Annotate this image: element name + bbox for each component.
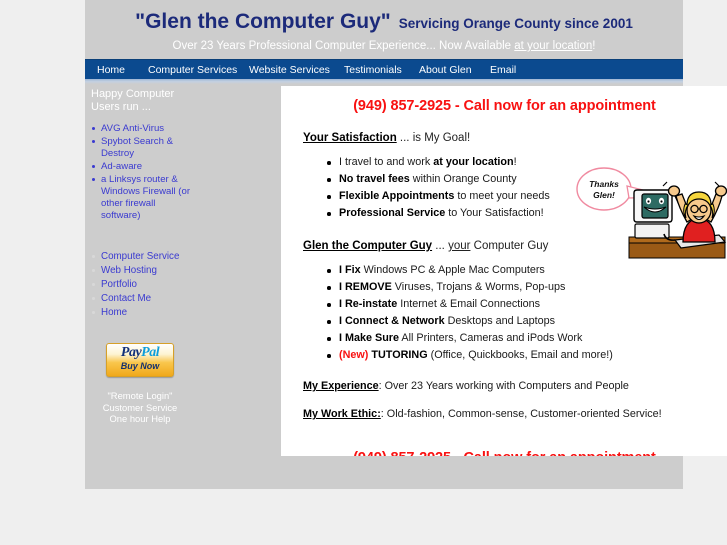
bullet-bold: I REMOVE: [339, 281, 392, 293]
bullet-post: !: [514, 156, 517, 168]
bullet-bold: at your location: [433, 156, 513, 168]
list-item: Web Hosting: [91, 264, 193, 277]
page-root: "Glen the Computer Guy"Servicing Orange …: [0, 0, 727, 545]
sidebar-link-web-hosting[interactable]: Web Hosting: [101, 265, 157, 276]
bullet-post: to meet your needs: [454, 190, 549, 202]
header-title-row: "Glen the Computer Guy"Servicing Orange …: [85, 10, 683, 34]
list-item: Portfolio: [91, 278, 193, 291]
bullet-bold: No travel fees: [339, 173, 410, 185]
person-fist-left: [669, 186, 680, 196]
nav-item-home[interactable]: Home: [97, 64, 125, 76]
nav-item-computer-services[interactable]: Computer Services: [148, 64, 237, 76]
sidebar-heading: Happy Computer Users run ...: [85, 86, 195, 114]
nav-item-testimonials[interactable]: Testimonials: [344, 64, 402, 76]
bullet-bold: I Make Sure: [339, 332, 399, 344]
sidebar-link-computer-service[interactable]: Computer Service: [101, 251, 179, 262]
list-item: I Fix Windows PC & Apple Mac Computers: [327, 262, 727, 279]
main-content-panel: (949) 857-2925 - Call now for an appoint…: [281, 86, 727, 456]
bullet-post: (Office, Quickbooks, Email and more!): [428, 349, 613, 361]
site-title: "Glen the Computer Guy": [135, 10, 391, 33]
list-item: Computer Service: [91, 250, 193, 263]
screen-pupil-right: [660, 200, 662, 202]
satisfaction-heading-rest: ... is My Goal!: [397, 132, 471, 144]
paypal-section: PayPal Buy Now "Remote Login" Customer S…: [85, 343, 195, 425]
services-heading-rest-b: Computer Guy: [470, 240, 548, 252]
monitor-screen: [642, 194, 668, 218]
phone-cta-bottom[interactable]: (949) 857-2925 - Call now for an appoint…: [281, 450, 727, 456]
list-item: Home: [91, 306, 193, 319]
bullet-post: within Orange County: [410, 173, 517, 185]
experience-line: My Experience: Over 23 Years working wit…: [303, 380, 727, 392]
list-item: Spybot Search & Destroy: [91, 136, 193, 160]
sidebar-link-home[interactable]: Home: [101, 307, 127, 318]
new-badge: (New): [339, 349, 368, 361]
services-heading-your: your: [448, 240, 470, 252]
bullet-bold: I Fix: [339, 264, 361, 276]
main-navigation: Home Computer Services Website Services …: [85, 59, 683, 80]
bubble-line1: Thanks: [589, 179, 619, 189]
nav-item-email[interactable]: Email: [490, 64, 516, 76]
cheering-customer-illustration: Thanks Glen!: [575, 160, 727, 264]
services-heading-label: Glen the Computer Guy: [303, 240, 432, 252]
sidebar-link-portfolio[interactable]: Portfolio: [101, 279, 137, 290]
work-ethic-label: My Work Ethic:: [303, 408, 381, 420]
sidebar-links-list: Computer Service Web Hosting Portfolio C…: [85, 250, 195, 319]
list-item: I Re-instate Internet & Email Connection…: [327, 296, 727, 313]
paypal-logo-pal: Pal: [141, 345, 159, 360]
speech-bubble: [577, 168, 631, 210]
nav-item-website-services[interactable]: Website Services: [249, 64, 330, 76]
services-heading-rest-a: ...: [432, 240, 448, 252]
navbar-underline: [85, 79, 683, 84]
subtitle-text-before: Over 23 Years Professional Computer Expe…: [173, 40, 515, 52]
paypal-caption: "Remote Login" Customer Service One hour…: [85, 390, 195, 425]
bubble-line2: Glen!: [593, 190, 615, 200]
paypal-buy-now-label: Buy Now: [107, 361, 173, 371]
experience-text: : Over 23 Years working with Computers a…: [379, 380, 629, 392]
phone-cta-top[interactable]: (949) 857-2925 - Call now for an appoint…: [281, 98, 727, 114]
satisfaction-heading-label: Your Satisfaction: [303, 132, 397, 144]
list-item: I REMOVE Viruses, Trojans & Worms, Pop-u…: [327, 279, 727, 296]
bullet-post: to Your Satisfaction!: [445, 207, 543, 219]
bullet-pre: I travel to and work: [339, 156, 433, 168]
paypal-buy-now-button[interactable]: PayPal Buy Now: [106, 343, 174, 377]
bullet-post: Viruses, Trojans & Worms, Pop-ups: [392, 281, 566, 293]
paypal-caption-line2: Customer Service: [85, 402, 195, 414]
nav-item-about-glen[interactable]: About Glen: [419, 64, 472, 76]
sidebar-link-contact-me[interactable]: Contact Me: [101, 293, 151, 304]
paypal-logo: PayPal: [107, 346, 173, 360]
list-item: Ad-aware: [91, 161, 193, 173]
screen-pupil-left: [647, 200, 649, 202]
bullet-bold: Professional Service: [339, 207, 445, 219]
bullet-bold: TUTORING: [371, 349, 427, 361]
list-item: I Connect & Network Desktops and Laptops: [327, 313, 727, 330]
list-item: Contact Me: [91, 292, 193, 305]
person-fist-right: [716, 186, 727, 196]
list-item: a Linksys router & Windows Firewall (or …: [91, 174, 193, 222]
experience-label: My Experience: [303, 380, 379, 392]
list-item: AVG Anti-Virus: [91, 123, 193, 135]
satisfaction-heading: Your Satisfaction ... is My Goal!: [303, 132, 727, 144]
left-sidebar: Happy Computer Users run ... AVG Anti-Vi…: [85, 86, 195, 425]
header-subtitle: Over 23 Years Professional Computer Expe…: [85, 40, 683, 52]
sidebar-software-list: AVG Anti-Virus Spybot Search & Destroy A…: [85, 123, 195, 222]
work-ethic-text: : Old-fashion, Common-sense, Customer-or…: [381, 408, 662, 420]
bullet-post: Internet & Email Connections: [397, 298, 540, 310]
paypal-caption-line3: One hour Help: [85, 413, 195, 425]
bullet-bold: I Connect & Network: [339, 315, 445, 327]
subtitle-text-after: !: [592, 40, 595, 52]
at-your-location-link[interactable]: at your location: [514, 40, 592, 52]
site-header: "Glen the Computer Guy"Servicing Orange …: [85, 0, 683, 58]
bullet-bold: I Re-instate: [339, 298, 397, 310]
work-ethic-line: My Work Ethic:: Old-fashion, Common-sens…: [303, 408, 727, 420]
list-item: (New) TUTORING (Office, Quickbooks, Emai…: [327, 347, 727, 364]
services-bullet-list: I Fix Windows PC & Apple Mac Computers I…: [281, 262, 727, 364]
bullet-bold: Flexible Appointments: [339, 190, 454, 202]
bullet-post: All Printers, Cameras and iPods Work: [399, 332, 582, 344]
bullet-post: Windows PC & Apple Mac Computers: [361, 264, 545, 276]
list-item: I Make Sure All Printers, Cameras and iP…: [327, 330, 727, 347]
site-tagline: Servicing Orange County since 2001: [399, 16, 633, 31]
paypal-logo-pay: Pay: [121, 345, 141, 360]
paypal-caption-line1: "Remote Login": [85, 390, 195, 402]
bullet-post: Desktops and Laptops: [445, 315, 555, 327]
